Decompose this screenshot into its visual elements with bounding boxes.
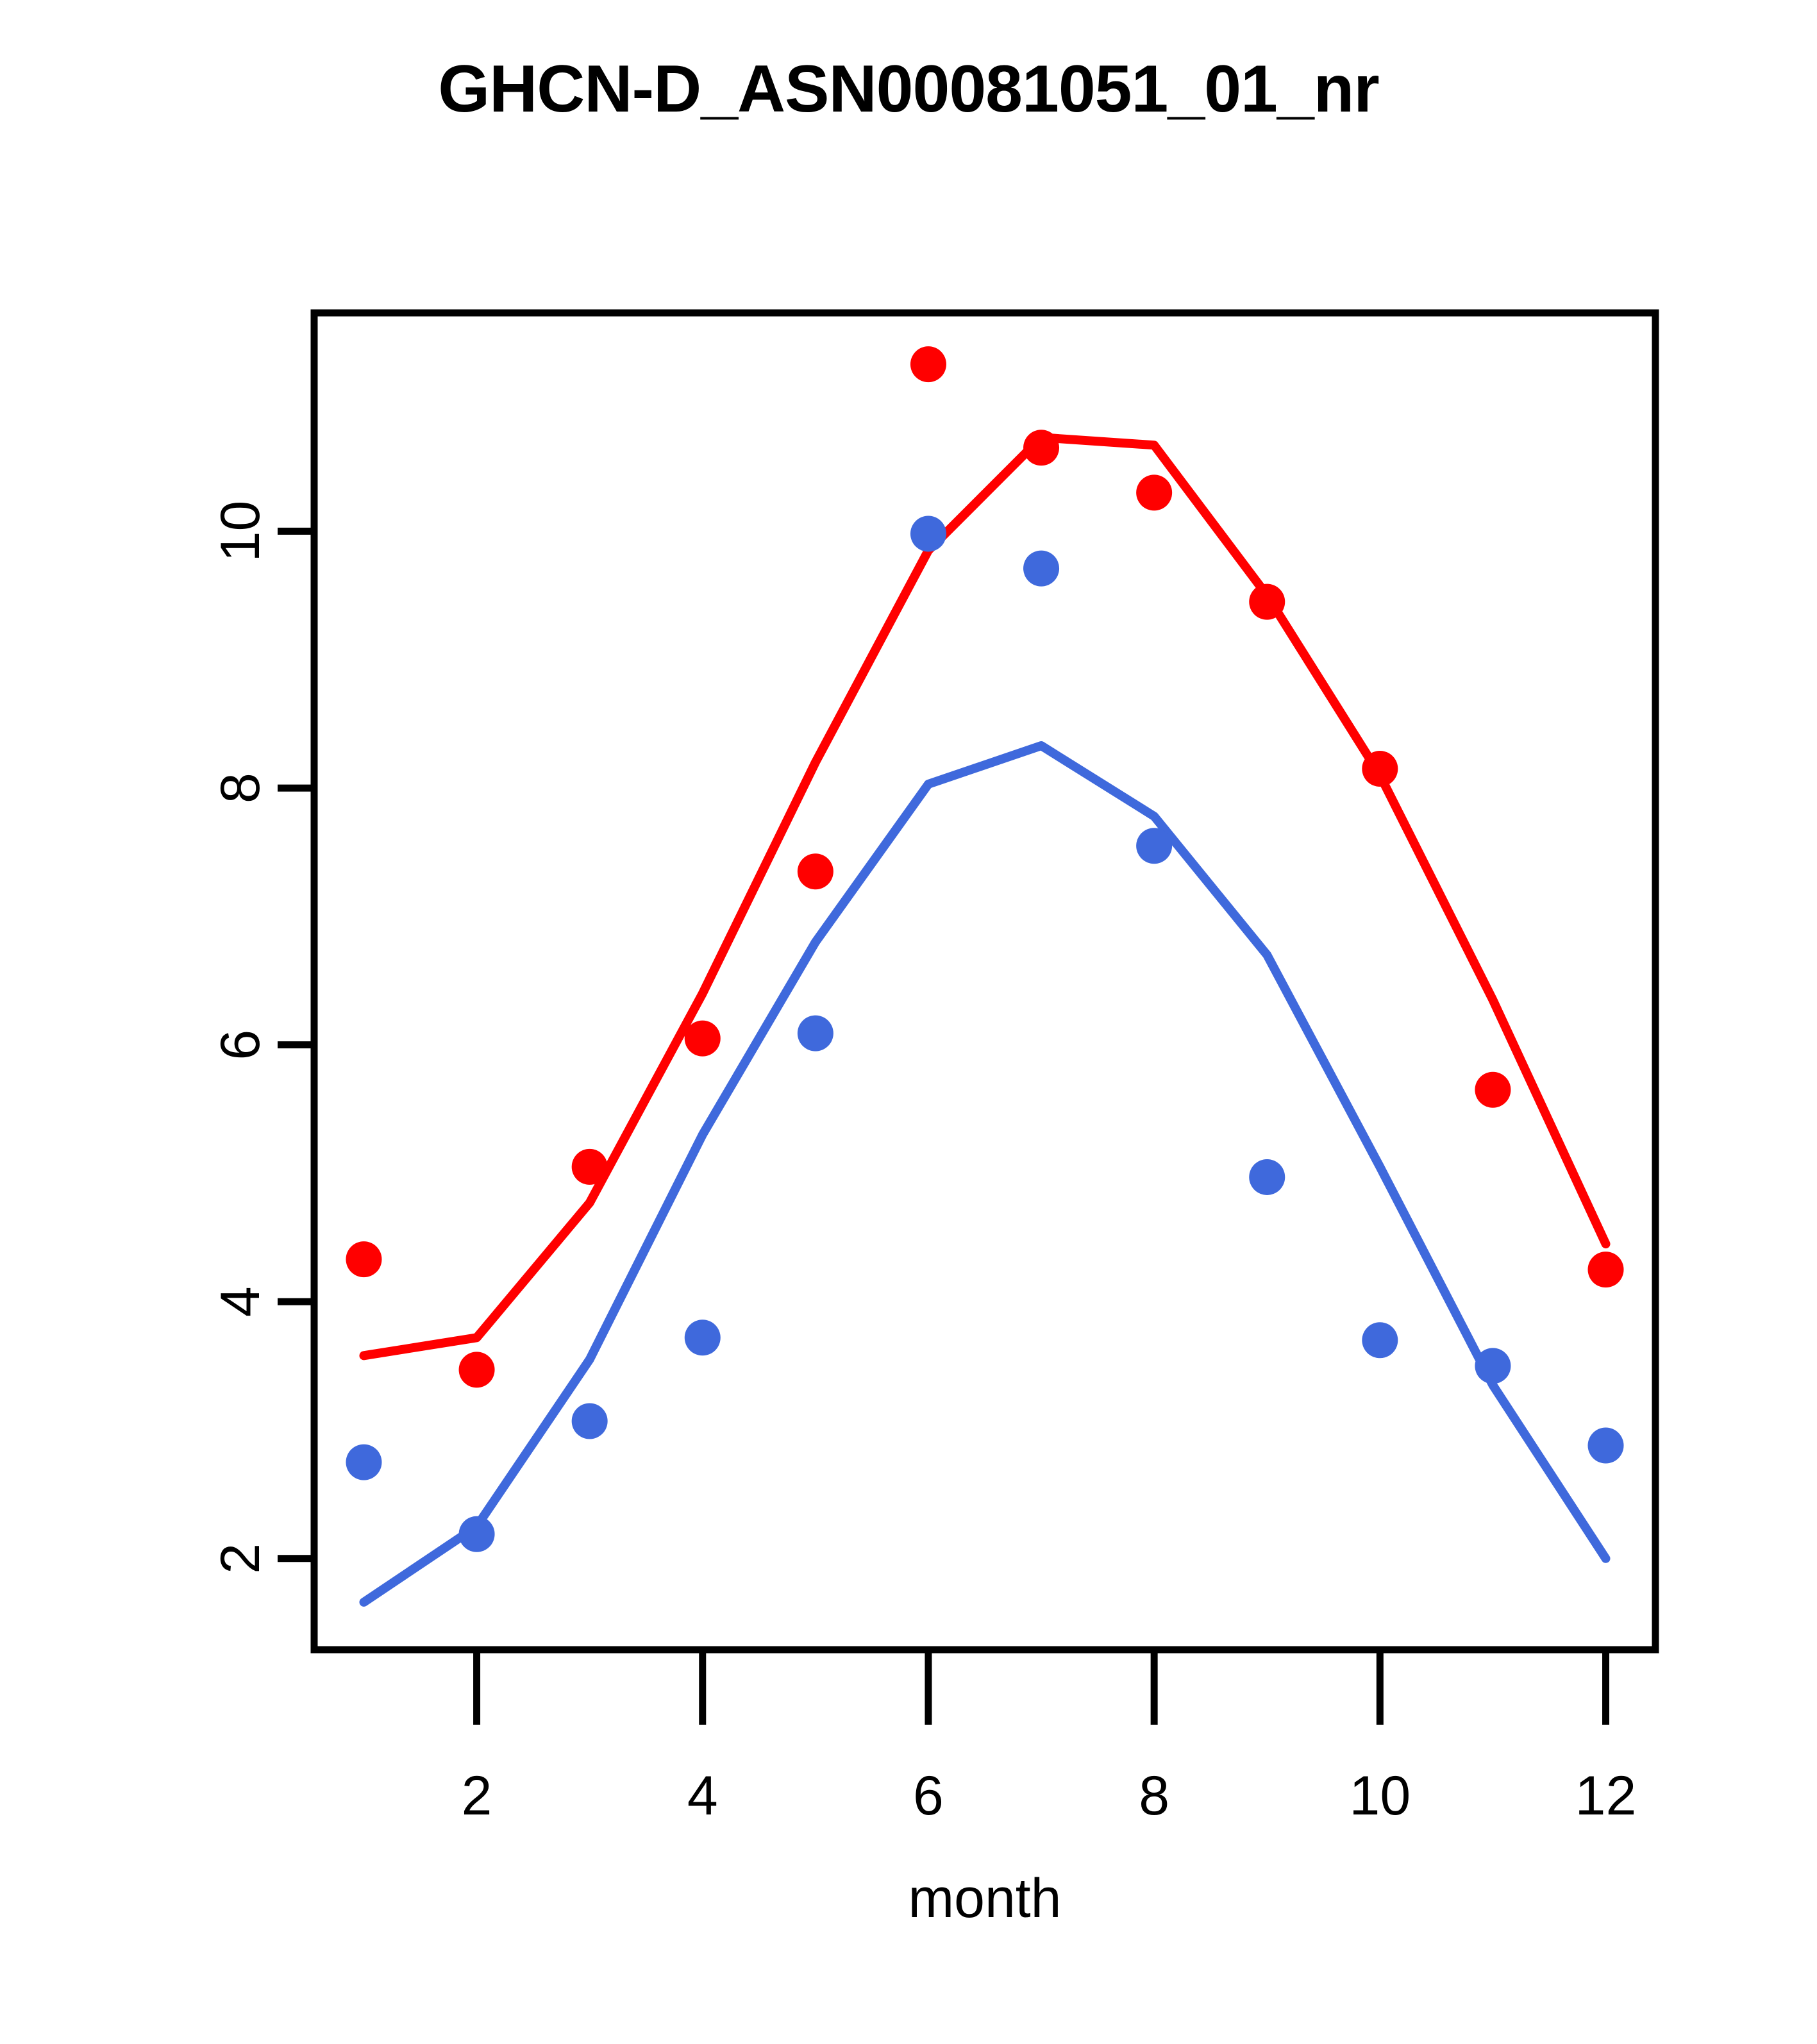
- x-tick-label: 4: [687, 1765, 718, 1827]
- y-tick-label: 4: [210, 1286, 271, 1317]
- data-point: [1362, 1322, 1398, 1358]
- data-point: [685, 1021, 721, 1057]
- x-tick-label: 6: [913, 1765, 944, 1827]
- data-point: [1023, 551, 1059, 587]
- data-point: [798, 853, 833, 889]
- red-points: [346, 346, 1623, 1387]
- data-point: [1249, 1159, 1285, 1195]
- data-series-layer: [346, 346, 1623, 1602]
- data-point: [1475, 1072, 1511, 1108]
- data-point: [1588, 1252, 1624, 1287]
- data-point: [1475, 1348, 1511, 1384]
- blue-line: [364, 746, 1605, 1602]
- data-point: [1023, 430, 1059, 465]
- y-tick-label: 6: [210, 1030, 271, 1060]
- y-tick-label: 10: [210, 501, 271, 562]
- data-point: [1362, 751, 1398, 787]
- y-tick-label: 8: [210, 773, 271, 803]
- data-point: [572, 1149, 608, 1185]
- data-point: [1249, 584, 1285, 620]
- data-point: [572, 1403, 608, 1439]
- data-point: [1136, 828, 1172, 864]
- plot-box: [314, 313, 1655, 1650]
- data-point: [685, 1319, 721, 1355]
- plot-area: 246810 24681012 month: [0, 0, 1817, 2044]
- y-axis-ticks: 246810: [210, 501, 314, 1574]
- x-tick-label: 8: [1139, 1765, 1169, 1827]
- x-tick-label: 10: [1349, 1765, 1411, 1827]
- plot-frame: [314, 313, 1655, 1650]
- y-tick-label: 2: [210, 1543, 271, 1574]
- x-axis-title: month: [908, 1868, 1061, 1929]
- data-point: [459, 1516, 495, 1552]
- x-tick-label: 12: [1575, 1765, 1637, 1827]
- data-point: [346, 1445, 381, 1480]
- data-point: [346, 1241, 381, 1277]
- data-point: [1588, 1428, 1624, 1464]
- red-line: [364, 437, 1605, 1355]
- x-axis-ticks: 24681012: [462, 1650, 1637, 1827]
- chart-page: GHCN-D_ASN00081051_01_nr 246810 24681012…: [0, 0, 1817, 2044]
- blue-points: [346, 515, 1623, 1552]
- x-tick-label: 2: [462, 1765, 492, 1827]
- data-point: [798, 1016, 833, 1051]
- data-point: [910, 346, 946, 382]
- data-point: [910, 515, 946, 551]
- data-point: [1136, 474, 1172, 510]
- data-point: [459, 1352, 495, 1387]
